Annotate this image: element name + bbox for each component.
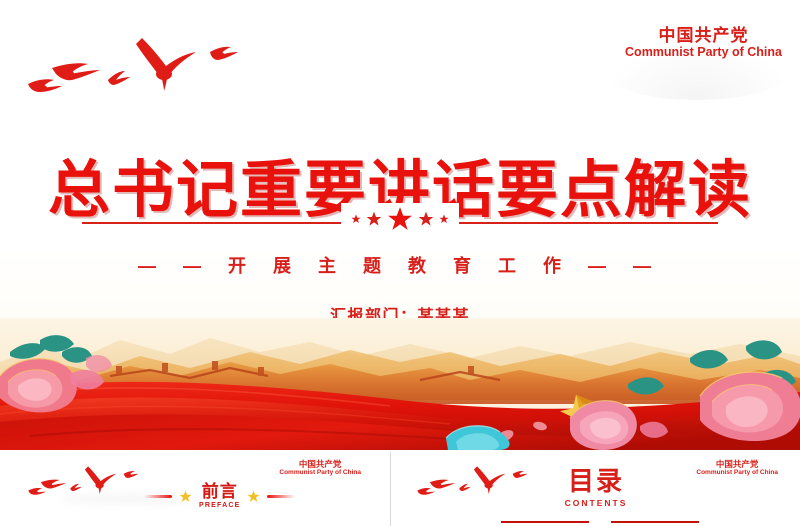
contents-bar-right: [611, 521, 699, 523]
landscape-decoration: [0, 318, 800, 450]
preface-label-cn: 前言: [199, 483, 240, 500]
brand-name-cn: 中国共产党: [625, 26, 782, 45]
contents-label-en: CONTENTS: [541, 498, 651, 508]
preface-bar-right: [267, 495, 295, 498]
contents-heading: 目录 CONTENTS: [541, 468, 651, 508]
star-icon: [439, 214, 449, 224]
star-icon: [179, 490, 192, 503]
page-subtitle: — — 开 展 主 题 教 育 工 作 — —: [0, 252, 800, 278]
preface-label-block: 前言 PREFACE: [199, 483, 240, 509]
brand-name-en: Communist Party of China: [696, 469, 778, 476]
slide-thumbnail-preface[interactable]: 中国共产党 Communist Party of China 前言 PREFAC…: [0, 450, 389, 526]
star-icon: [247, 490, 260, 503]
star-icon: [351, 214, 361, 224]
brand-logo: 中国共产党 Communist Party of China: [279, 460, 361, 476]
brand-name-en: Communist Party of China: [279, 469, 361, 476]
brand-logo: 中国共产党 Communist Party of China: [625, 26, 782, 59]
flying-birds-icon: [24, 22, 254, 102]
contents-label-cn: 目录: [541, 468, 651, 494]
brand-name-cn: 中国共产党: [279, 460, 361, 469]
slide-thumbnail-strip: 中国共产党 Communist Party of China 前言 PREFAC…: [0, 450, 800, 526]
brand-logo: 中国共产党 Communist Party of China: [696, 460, 778, 476]
thumbnail-divider: [390, 452, 391, 526]
contents-divider-bars: [501, 521, 699, 523]
star-icon: [366, 211, 382, 227]
title-slide[interactable]: 中国共产党 Communist Party of China: [0, 0, 800, 450]
contents-bar-left: [501, 521, 589, 523]
preface-heading: 前言 PREFACE: [144, 483, 295, 509]
brand-name-en: Communist Party of China: [625, 45, 782, 59]
preface-bar-left: [144, 495, 172, 498]
flying-birds-icon: [413, 458, 538, 500]
preface-label-en: PREFACE: [199, 502, 240, 509]
slide-thumbnail-contents[interactable]: 中国共产党 Communist Party of China 目录 CONTEN…: [391, 450, 800, 526]
star-icon: [387, 206, 413, 232]
presentation-preview: 中国共产党 Communist Party of China: [0, 0, 800, 526]
star-icon: [418, 211, 434, 227]
brand-name-cn: 中国共产党: [696, 460, 778, 469]
star-divider: [341, 203, 459, 235]
great-wall-mountains-illustration: [0, 318, 800, 450]
